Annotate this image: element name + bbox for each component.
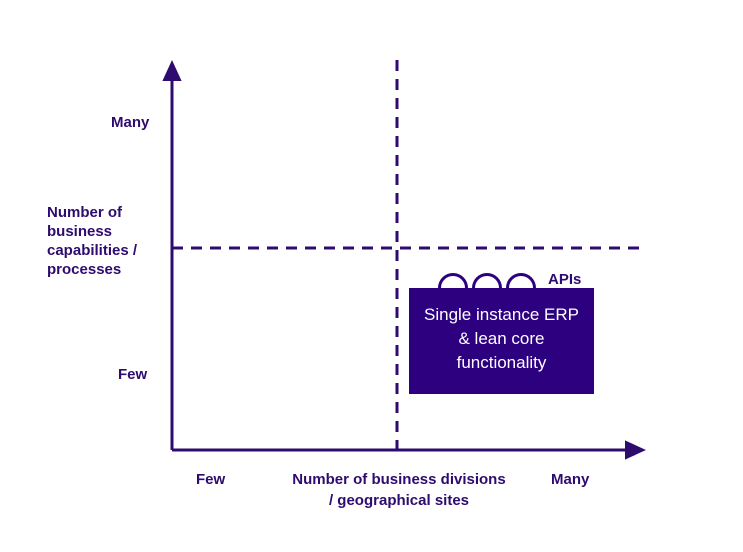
erp-callout-box: Single instance ERP & lean core function…: [409, 288, 594, 394]
quadrant-diagram-canvas: Single instance ERP & lean core function…: [0, 0, 743, 552]
x-axis-tick-many: Many: [551, 470, 589, 489]
x-axis-title: Number of business divisions / geographi…: [283, 469, 515, 511]
y-axis-tick-many: Many: [111, 113, 149, 132]
y-axis-title: Number of business capabilities / proces…: [47, 203, 167, 279]
erp-callout-label: Single instance ERP & lean core function…: [424, 303, 579, 379]
x-axis-tick-few: Few: [196, 470, 225, 489]
apis-label: APIs: [548, 270, 581, 289]
y-axis-tick-few: Few: [118, 365, 147, 384]
